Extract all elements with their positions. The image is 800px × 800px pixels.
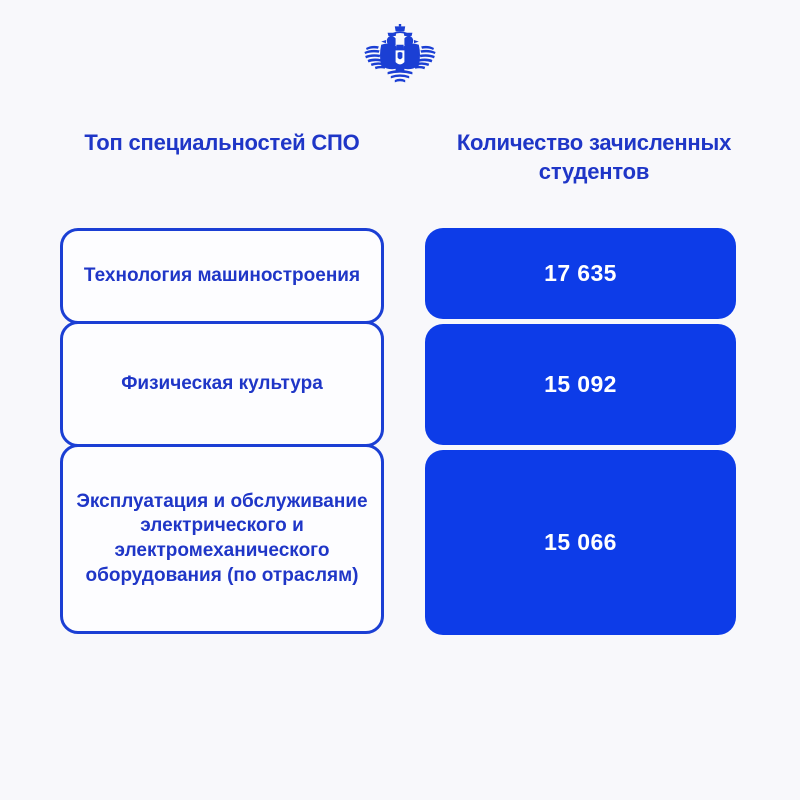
table-row: Технология машиностроения	[60, 228, 384, 324]
table-row: 17 635	[425, 228, 736, 319]
specialty-name: Эксплуатация и обслуживание электрическо…	[73, 490, 371, 589]
table-row: 15 092	[425, 324, 736, 445]
specialty-name: Технология машиностроения	[84, 264, 360, 289]
data-table: Технология машиностроения Физическая кул…	[0, 228, 800, 635]
table-row: Эксплуатация и обслуживание электрическо…	[60, 444, 384, 634]
table-row: 15 066	[425, 450, 736, 635]
specialty-name-column: Технология машиностроения Физическая кул…	[60, 228, 384, 635]
enrolled-count-column: 17 635 15 092 15 066	[425, 228, 736, 635]
emblem-container	[0, 24, 800, 88]
enrolled-count: 15 066	[544, 529, 617, 556]
russian-coat-of-arms-double-headed-eagle-icon	[358, 24, 442, 88]
enrolled-count: 17 635	[544, 260, 617, 287]
infographic-page: Топ специальностей СПО Количество зачисл…	[0, 0, 800, 800]
column-headers: Топ специальностей СПО Количество зачисл…	[0, 128, 800, 186]
table-row: Физическая культура	[60, 321, 384, 447]
header-specialties: Топ специальностей СПО	[42, 128, 402, 186]
specialty-name: Физическая культура	[121, 372, 323, 397]
header-enrolled-students: Количество зачисленных студентов	[414, 128, 774, 186]
enrolled-count: 15 092	[544, 371, 617, 398]
